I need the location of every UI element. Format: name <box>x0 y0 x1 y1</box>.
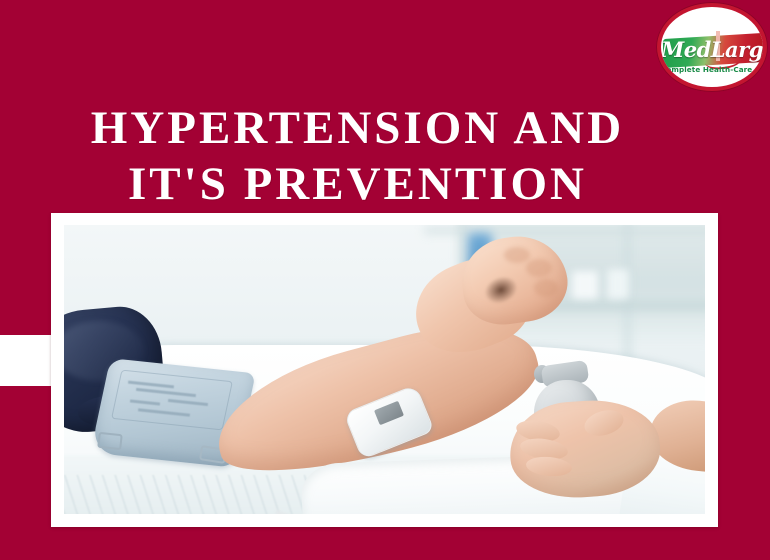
knuckle-shadow-3 <box>534 279 558 297</box>
logo-disc: MedLarge Complete Health-Care Guideline <box>661 7 763 87</box>
logo-brand-name: MedLarge <box>661 35 763 65</box>
cuff-d-ring-left <box>97 432 123 450</box>
knuckle-shadow-2 <box>526 259 552 277</box>
shelf-jar-two <box>607 269 629 299</box>
shelf-line-upper <box>424 227 705 234</box>
photo-image <box>64 225 705 514</box>
photo-scene <box>64 225 705 514</box>
brand-logo[interactable]: MedLarge Complete Health-Care Guideline <box>656 2 768 92</box>
page-title: HYPERTENSION AND IT'S PREVENTION <box>0 100 715 212</box>
poster-canvas: MedLarge Complete Health-Care Guideline … <box>0 0 770 560</box>
shelf-jar-one <box>572 271 598 299</box>
title-line-2: IT'S PREVENTION <box>0 156 715 212</box>
left-accent-band <box>0 335 52 386</box>
title-line-1: HYPERTENSION AND <box>0 100 715 156</box>
knuckle-shadow-1 <box>504 247 530 263</box>
logo-tagline: Complete Health-Care Guideline <box>661 65 763 75</box>
photo-frame <box>51 213 718 527</box>
